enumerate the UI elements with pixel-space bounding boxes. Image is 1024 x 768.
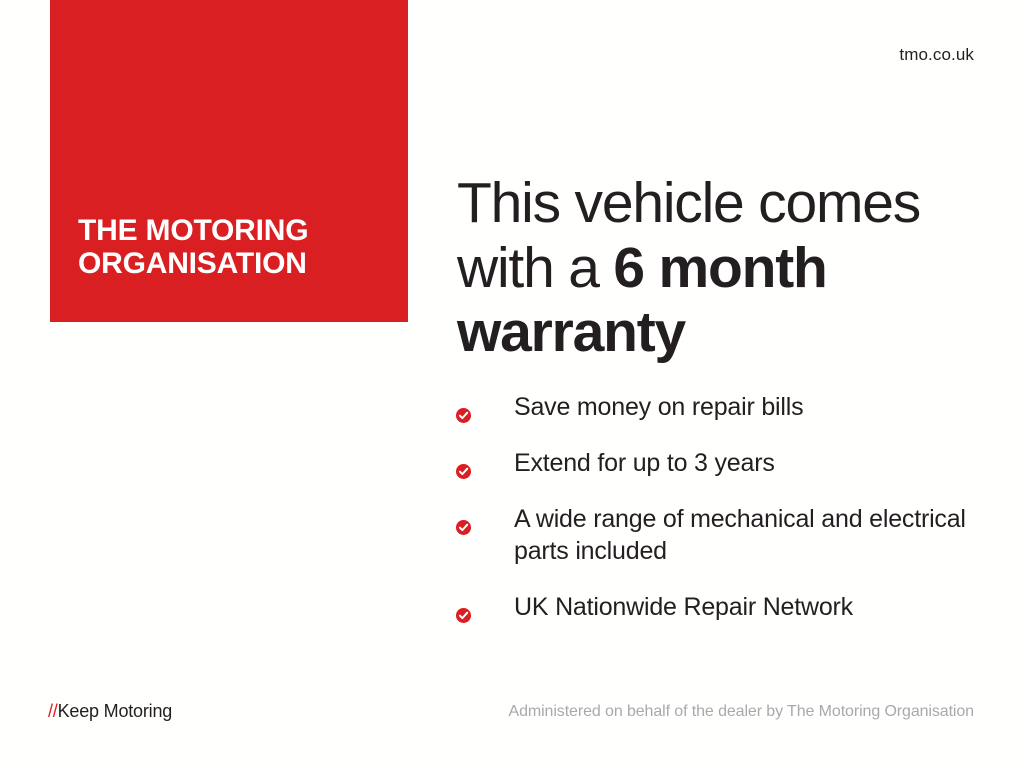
page-title: This vehicle comes with a 6 month warran…: [457, 171, 987, 364]
check-circle-icon: [456, 399, 471, 414]
list-item-label: Extend for up to 3 years: [514, 449, 775, 477]
footer-tagline: //Keep Motoring: [48, 701, 172, 722]
footer-disclaimer: Administered on behalf of the dealer by …: [509, 703, 975, 721]
list-item-label: UK Nationwide Repair Network: [514, 593, 853, 621]
list-item: A wide range of mechanical and electrica…: [456, 503, 976, 567]
check-circle-icon: [456, 455, 471, 470]
brand-logo-block: THE MOTORING ORGANISATION: [50, 0, 408, 322]
check-circle-icon: [456, 511, 471, 526]
logo-wordmark: THE MOTORING ORGANISATION: [78, 215, 308, 280]
list-item: Save money on repair bills: [456, 391, 976, 423]
logo-line-2: ORGANISATION: [78, 248, 308, 280]
list-item-label: A wide range of mechanical and electrica…: [514, 505, 966, 565]
footer-tagline-text: Keep Motoring: [58, 701, 172, 721]
check-circle-icon: [456, 599, 471, 614]
list-item-label: Save money on repair bills: [514, 393, 803, 421]
site-url: tmo.co.uk: [899, 45, 974, 65]
list-item: UK Nationwide Repair Network: [456, 591, 976, 623]
slashes-mark: //: [48, 701, 58, 721]
list-item: Extend for up to 3 years: [456, 447, 976, 479]
logo-line-1: THE MOTORING: [78, 215, 308, 247]
benefits-list: Save money on repair bills Extend for up…: [456, 391, 976, 623]
